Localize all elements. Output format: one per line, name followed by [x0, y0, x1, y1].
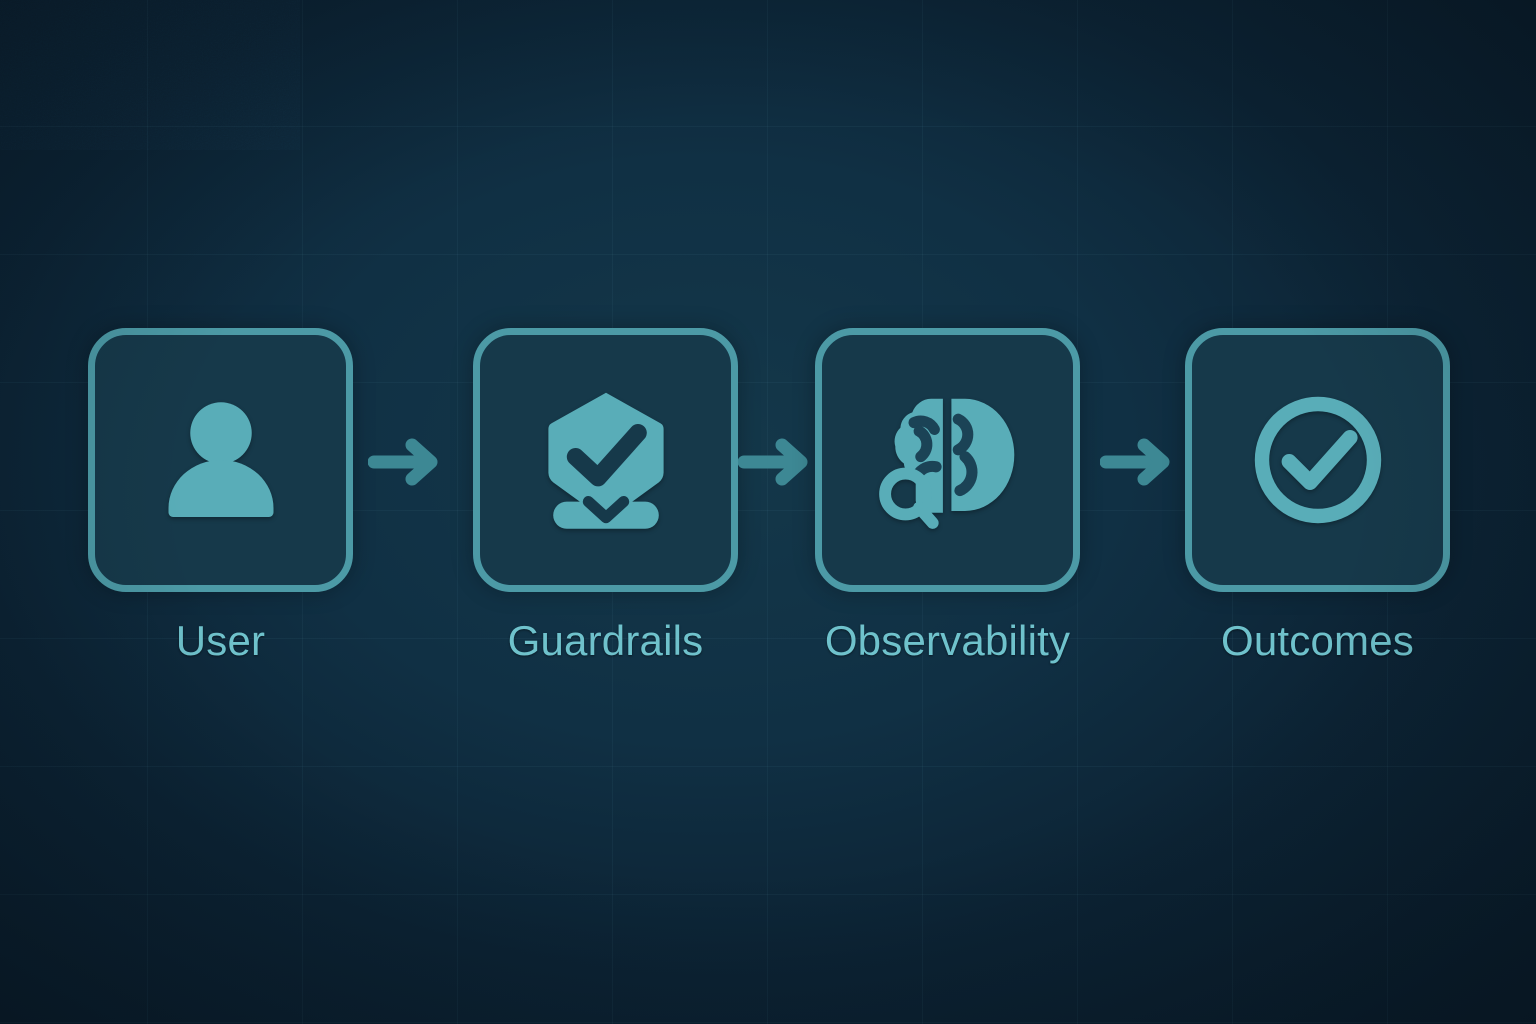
flow-step-user[interactable]: User	[88, 328, 353, 592]
flow-step-observability[interactable]: Observability	[815, 328, 1080, 592]
user-icon	[88, 328, 353, 592]
step-label: Outcomes	[1185, 620, 1450, 662]
flow-step-guardrails[interactable]: Guardrails	[473, 328, 738, 592]
arrow-right-icon	[738, 428, 818, 496]
step-label: User	[88, 620, 353, 662]
arrow-right-icon	[368, 428, 448, 496]
flow-diagram: User Guardrails	[0, 0, 1536, 1024]
check-circle-icon	[1185, 328, 1450, 592]
step-label: Observability	[815, 620, 1080, 662]
diagram-canvas: User Guardrails	[0, 0, 1536, 1024]
step-label: Guardrails	[473, 620, 738, 662]
arrow-right-icon	[1100, 428, 1180, 496]
shield-check-icon	[473, 328, 738, 592]
brain-search-icon	[815, 328, 1080, 592]
flow-step-outcomes[interactable]: Outcomes	[1185, 328, 1450, 592]
